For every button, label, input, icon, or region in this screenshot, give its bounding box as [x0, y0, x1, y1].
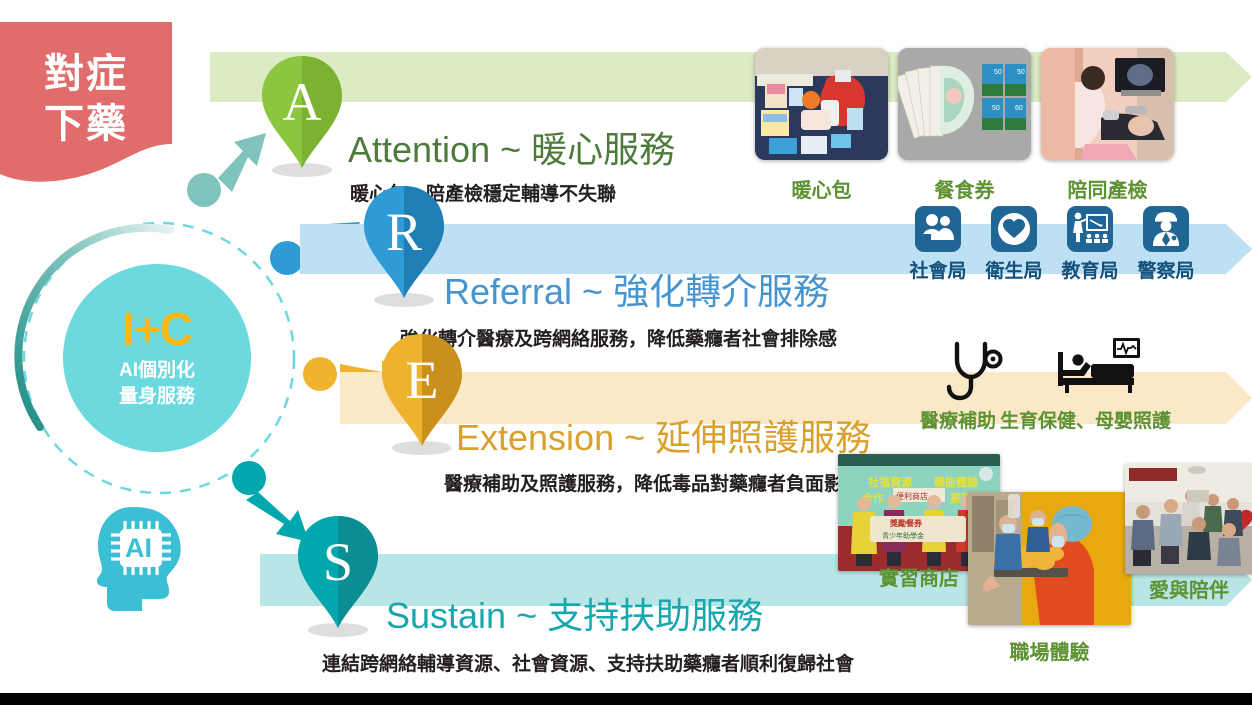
dept-caption-health: 衛生局 — [982, 256, 1046, 283]
row-referral: R Referral ~ 強化轉介服務 強化轉介醫療及跨網絡服務，降低藥癮者社會… — [300, 182, 1252, 312]
badge-text: 對症 下藥 — [0, 50, 172, 149]
referral-pin-marker: R — [358, 182, 450, 312]
icon-medical-subsidy — [944, 340, 1006, 407]
svg-text:60: 60 — [1015, 105, 1023, 112]
extension-subline: 醫療補助及照護服務，降低毒品對藥癮者負面影響 — [444, 475, 862, 494]
svg-text:R: R — [386, 202, 422, 262]
hub-subtitle-line1: AI個別化 — [119, 358, 195, 384]
svg-text:職能體驗: 職能體驗 — [934, 475, 978, 489]
heart-icon — [991, 206, 1037, 252]
people-group-icon — [915, 206, 961, 252]
caption-maternal-care: 生育保健、母嬰照護 — [1000, 406, 1171, 433]
caption-workplace-experience: 職場體驗 — [968, 636, 1131, 665]
svg-text:S: S — [323, 532, 353, 592]
extension-pin-marker: E — [376, 330, 468, 460]
dept-caption-social-affairs: 社會局 — [906, 256, 970, 283]
center-hub: I+C AI個別化 量身服務 — [63, 264, 251, 452]
title-badge: 對症 下藥 — [0, 22, 205, 212]
icon-maternal-care — [1058, 336, 1142, 407]
infographic-canvas: I+C AI個別化 量身服務 AI — [0, 0, 1252, 705]
badge-line-1: 對症 — [0, 50, 172, 100]
sustain-heading: Sustain ~ 支持扶助服務 — [386, 598, 763, 634]
dept-caption-police: 警察局 — [1134, 256, 1198, 283]
hospital-bed-monitor-icon — [1058, 336, 1142, 402]
caption-medical-subsidy: 醫療補助 — [920, 406, 996, 433]
sustain-subline: 連結跨網絡輔導資源、社會資源、支持扶助藥癮者順利復歸社會 — [322, 655, 854, 674]
police-officer-icon — [1143, 206, 1189, 252]
svg-text:50: 50 — [1017, 69, 1025, 76]
svg-text:E: E — [406, 350, 439, 410]
svg-text:AI: AI — [125, 533, 152, 563]
dept-caption-education: 教育局 — [1058, 256, 1122, 283]
thumbnail-prenatal-exam — [1041, 48, 1174, 160]
svg-text:便利商店: 便利商店 — [896, 491, 928, 501]
extension-heading: Extension ~ 延伸照護服務 — [456, 420, 871, 456]
dept-icon-police: 警察局 — [1143, 206, 1189, 252]
referral-heading: Referral ~ 強化轉介服務 — [444, 274, 829, 310]
svg-text:A: A — [283, 72, 322, 132]
svg-text:社福資源: 社福資源 — [867, 475, 912, 489]
row-extension: E Extension ~ 延伸照護服務 醫療補助及照護服務，降低毒品對藥癮者負… — [340, 330, 1252, 460]
svg-text:青少年助學金: 青少年助學金 — [882, 531, 924, 540]
svg-text:獎勵餐券: 獎勵餐券 — [889, 518, 923, 528]
thumbnail-care-package — [755, 48, 888, 160]
stethoscope-icon — [944, 340, 1006, 402]
thumbnail-love-companionship — [1125, 464, 1252, 574]
bottom-strip — [0, 693, 1252, 705]
svg-text:50: 50 — [992, 105, 1000, 112]
hub-title: I+C — [122, 306, 192, 352]
sustain-pin-marker: S — [292, 512, 384, 642]
attention-heading: Attention ~ 暖心服務 — [348, 132, 675, 168]
thumbnail-workplace-experience — [968, 492, 1131, 625]
dept-icon-health: 衛生局 — [991, 206, 1037, 252]
dept-icon-social-affairs: 社會局 — [915, 206, 961, 252]
hub-subtitle: AI個別化 量身服務 — [119, 358, 195, 409]
svg-text:50: 50 — [994, 69, 1002, 76]
dept-icon-education: 教育局 — [1067, 206, 1113, 252]
hub-subtitle-line2: 量身服務 — [119, 384, 195, 410]
ai-head-icon: AI — [96, 505, 216, 613]
classroom-teacher-icon — [1067, 206, 1113, 252]
badge-line-2: 下藥 — [0, 100, 172, 150]
attention-pin-marker: A — [256, 52, 348, 182]
caption-love-companionship: 愛與陪伴 — [1125, 574, 1252, 603]
row-attention: A Attention ~ 暖心服務 暖心包、陪產檢穩定輔導不失聯 — [210, 52, 1252, 192]
row-sustain: S Sustain ~ 支持扶助服務 連結跨網絡輔導資源、社會資源、支持扶助藥癮… — [260, 512, 1252, 662]
thumbnail-meal-vouchers: 5050 5060 — [898, 48, 1031, 160]
